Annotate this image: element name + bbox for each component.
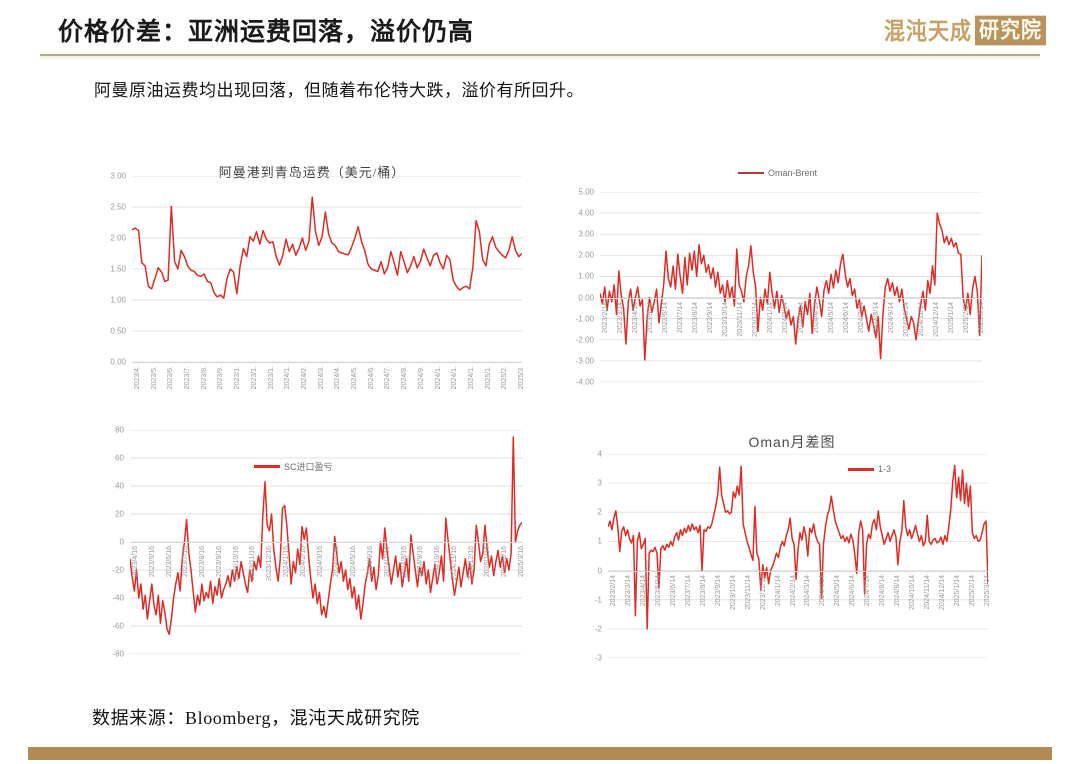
x-axis-tick-label: 2024/9/16 (417, 546, 424, 577)
x-axis-tick-label: 2023/4/14 (632, 302, 639, 333)
x-axis-tick-label: 2025/2/16 (501, 546, 508, 577)
x-axis-tick-label: 2023/7. (184, 366, 191, 389)
x-axis-tick-label: 2024/6. (368, 366, 375, 389)
plot-area: -4.00-3.00-2.00-1.000.001.002.003.004.00… (600, 192, 982, 382)
x-axis-tick-label: 2024/6/14 (849, 575, 856, 606)
x-axis-tick-label: 2024/6/14 (843, 302, 850, 333)
x-axis-tick-label: 2024/3/14 (804, 575, 811, 606)
page-title: 价格价差：亚洲运费回落，溢价仍高 (58, 12, 474, 48)
x-axis-tick-label: 2024/1. (435, 366, 442, 389)
x-axis-tick-label: 2024/8. (401, 366, 408, 389)
x-axis-tick-label: 2023/9/14 (715, 575, 722, 606)
x-axis-tick-label: 2024/12/14 (939, 575, 946, 610)
y-axis-tick-label: 80 (82, 426, 124, 435)
x-axis-tick-label: 2023/6/16 (166, 546, 173, 577)
x-axis-tick-label: 2023/9. (217, 366, 224, 389)
x-axis-tick-label: 2023/8/14 (692, 302, 699, 333)
x-axis-tick-label: 2025/1/16 (484, 546, 491, 577)
x-axis-tick-label: 2024/5/16 (350, 546, 357, 577)
legend-line-icon (738, 172, 764, 174)
x-axis-tick-label: 2023/12/16 (266, 546, 273, 581)
x-axis-tick-label: 2024/7/14 (864, 575, 871, 606)
legend-label: Oman-Brent (768, 168, 817, 178)
y-axis-tick-label: -20 (82, 566, 124, 575)
x-axis-tick-label: 2024/8/14 (879, 575, 886, 606)
chart-sc-import-profit-loss: SC进口盈亏 -80-60-40-200204060802023/4/16202… (86, 424, 538, 686)
x-axis-tick-label: 2023/7/14 (685, 575, 692, 606)
y-axis-tick-label: 1.00 (552, 272, 594, 281)
x-axis-tick-label: 2024/9/14 (888, 302, 895, 333)
x-axis-tick-label: 2025/3/14 (978, 302, 985, 333)
y-axis-tick-label: 3 (560, 479, 602, 488)
chart-oman-month-spread: Oman月差图 1-3 -3-2-1012342023/2/142023/3/1… (566, 428, 1018, 690)
x-axis-tick-label: 2023/11/14 (745, 575, 752, 610)
y-axis-tick-label: 4 (560, 450, 602, 459)
x-axis-tick-label: 2025/3/16 (518, 546, 525, 577)
y-axis-tick-label: 2 (560, 508, 602, 517)
x-axis-tick-label: 2025/1/14 (948, 302, 955, 333)
x-axis-tick-label: 2024/1/16 (283, 546, 290, 577)
x-axis-tick-label: 2025/3. (518, 366, 525, 389)
x-axis-tick-label: 2024/8/14 (873, 302, 880, 333)
y-axis-tick-label: -2 (560, 624, 602, 633)
plot-area: -3-2-1012342023/2/142023/3/142023/4/1420… (608, 454, 988, 658)
x-axis-tick-label: 2024/7/14 (858, 302, 865, 333)
x-axis-tick-label: 2024/10/16 (434, 546, 441, 581)
y-axis-tick-label: 2.00 (552, 251, 594, 260)
x-axis-tick-label: 2023/10/14 (722, 302, 729, 337)
x-axis-tick-label: 2024/1/14 (767, 302, 774, 333)
plot-area: 0.000.501.001.502.002.503.002023/4.2023/… (132, 176, 522, 362)
y-axis-tick-label: 0 (560, 566, 602, 575)
x-axis-tick-label: 2024/2/14 (790, 575, 797, 606)
x-axis-tick-label: 2023/5/14 (647, 302, 654, 333)
x-axis-tick-label: 2023/2/14 (602, 302, 609, 333)
series-line (130, 437, 522, 634)
y-axis-tick-label: 2.00 (84, 234, 126, 243)
chart-canvas (132, 176, 522, 362)
x-axis-tick-label: 2024/12/16 (468, 546, 475, 581)
x-axis-tick-label: 2024/10/14 (909, 575, 916, 610)
x-axis-tick-label: 2024/5/14 (828, 302, 835, 333)
x-axis-tick-label: 2023/3/14 (617, 302, 624, 333)
x-axis-tick-label: 2024/1/14 (775, 575, 782, 606)
logo-seal-text: 混沌天成 (884, 18, 972, 42)
y-axis-tick-label: 40 (82, 482, 124, 491)
y-axis-tick-label: 1 (560, 537, 602, 546)
y-axis-tick-label: 0.50 (84, 327, 126, 336)
series-line (132, 197, 522, 298)
x-axis-line (130, 542, 522, 543)
x-axis-tick-label: 2023/10/14 (730, 575, 737, 610)
x-axis-tick-label: 2024/5/14 (834, 575, 841, 606)
x-axis-tick-label: 2023/1. (268, 366, 275, 389)
x-axis-tick-label: 2024/6/16 (367, 546, 374, 577)
series-line (608, 466, 988, 629)
slide-header: 价格价差：亚洲运费回落，溢价仍高 混沌天成 研究院 (0, 0, 1080, 62)
x-axis-tick-label: 2024/1. (451, 366, 458, 389)
y-axis-tick-label: 2.50 (84, 203, 126, 212)
x-axis-tick-label: 2023/5/14 (655, 575, 662, 606)
x-axis-tick-label: 2024/2/16 (300, 546, 307, 577)
x-axis-tick-label: 2023/1. (251, 366, 258, 389)
x-axis-tick-label: 2023/6/14 (670, 575, 677, 606)
x-axis-tick-label: 2023/8/16 (199, 546, 206, 577)
x-axis-tick-label: 2024/3. (318, 366, 325, 389)
y-axis-tick-label: -40 (82, 594, 124, 603)
x-axis-tick-label: 2024/11/16 (451, 546, 458, 581)
footer-bar (28, 747, 1052, 760)
y-axis-tick-label: 60 (82, 454, 124, 463)
x-axis-tick-label: 2023/6/14 (662, 302, 669, 333)
company-logo: 混沌天成 研究院 (884, 12, 1046, 48)
x-axis-tick-label: 2023/2/14 (610, 575, 617, 606)
x-axis-tick-label: 2023/9/16 (216, 546, 223, 577)
y-axis-tick-label: -3.00 (552, 356, 594, 365)
plot-area: -80-60-40-200204060802023/4/162023/5/162… (130, 430, 522, 654)
x-axis-tick-label: 2024/9/14 (894, 575, 901, 606)
x-axis-tick-label: 2023/7/16 (182, 546, 189, 577)
y-axis-tick-label: -2.00 (552, 335, 594, 344)
y-axis-tick-label: 0.00 (552, 293, 594, 302)
x-axis-tick-label: 2024/4/14 (813, 302, 820, 333)
lead-paragraph: 阿曼原油运费均出现回落，但随着布伦特大跌，溢价有所回升。 (94, 76, 584, 101)
y-axis-tick-label: 1.50 (84, 265, 126, 274)
y-axis-tick-label: 0 (82, 538, 124, 547)
chart-oman-brent-spread: Oman-Brent -4.00-3.00-2.00-1.000.001.002… (548, 166, 1034, 398)
x-axis-tick-label: 2025/2/14 (963, 302, 970, 333)
x-axis-tick-label: 2024/1. (468, 366, 475, 389)
chart-legend: Oman-Brent (738, 168, 817, 178)
x-axis-tick-label: 2023/5/16 (149, 546, 156, 577)
x-axis-tick-label: 2025/3/14 (984, 575, 991, 606)
x-axis-tick-label: 2023/4. (134, 366, 141, 389)
y-axis-tick-label: -60 (82, 622, 124, 631)
y-axis-tick-label: 20 (82, 510, 124, 519)
x-axis-tick-label: 2024/7. (384, 366, 391, 389)
series-line (600, 213, 982, 360)
x-axis-tick-label: 2023/1. (234, 366, 241, 389)
y-axis-tick-label: -1.00 (552, 314, 594, 323)
x-axis-tick-label: 2023/11/16 (249, 546, 256, 581)
x-axis-tick-label: 2024/7/16 (384, 546, 391, 577)
x-axis-tick-label: 2023/9/14 (707, 302, 714, 333)
x-axis-tick-label: 2024/12/14 (933, 302, 940, 337)
x-axis-tick-label: 2024/5. (351, 366, 358, 389)
x-axis-tick-label: 2024/3/14 (798, 302, 805, 333)
x-axis-tick-label: 2023/10/16 (233, 546, 240, 581)
x-axis-tick-label: 2024/2. (301, 366, 308, 389)
y-axis-tick-label: -80 (82, 650, 124, 659)
chart-title: Oman月差图 (566, 432, 1018, 452)
y-axis-tick-label: -1 (560, 595, 602, 604)
x-axis-tick-label: 2025/2/14 (969, 575, 976, 606)
x-axis-tick-label: 2023/7/14 (677, 302, 684, 333)
x-axis-tick-label: 2024/9. (418, 366, 425, 389)
y-axis-tick-label: -4.00 (552, 378, 594, 387)
y-axis-tick-label: 0.00 (84, 358, 126, 367)
x-axis-tick-label: 2024/11/14 (918, 302, 925, 337)
y-axis-tick-label: 4.00 (552, 209, 594, 218)
x-axis-tick-label: 2023/12/14 (752, 302, 759, 337)
x-axis-line (132, 362, 522, 363)
x-axis-tick-label: 2023/4/14 (640, 575, 647, 606)
x-axis-tick-label: 2023/5. (151, 366, 158, 389)
slide-root: 价格价差：亚洲运费回落，溢价仍高 混沌天成 研究院 阿曼原油运费均出现回落，但随… (0, 0, 1080, 764)
x-axis-line (608, 571, 988, 572)
x-axis-tick-label: 2023/8. (201, 366, 208, 389)
x-axis-tick-label: 2024/8/16 (401, 546, 408, 577)
x-axis-tick-label: 2024/4/16 (333, 546, 340, 577)
y-axis-tick-label: 1.00 (84, 296, 126, 305)
y-axis-tick-label: -3 (560, 654, 602, 663)
x-axis-tick-label: 2023/8/14 (700, 575, 707, 606)
y-axis-tick-label: 5.00 (552, 188, 594, 197)
data-source-note: 数据来源：Bloomberg，混沌天成研究院 (92, 704, 420, 730)
x-axis-tick-label: 2024/4/14 (819, 575, 826, 606)
x-axis-tick-label: 2023/11/14 (737, 302, 744, 337)
x-axis-tick-label: 2024/11/14 (924, 575, 931, 610)
x-axis-tick-label: 2023/12/14 (760, 575, 767, 610)
x-axis-tick-label: 2024/10/14 (903, 302, 910, 337)
chart-canvas (600, 192, 982, 382)
x-axis-tick-label: 2025/1. (485, 366, 492, 389)
y-axis-tick-label: 3.00 (84, 172, 126, 181)
x-axis-tick-label: 2024/3/16 (317, 546, 324, 577)
x-axis-tick-label: 2023/6. (167, 366, 174, 389)
x-axis-tick-label: 2025/2. (501, 366, 508, 389)
x-axis-tick-label: 2023/3/14 (625, 575, 632, 606)
x-axis-tick-label: 2024/2/14 (782, 302, 789, 333)
x-axis-tick-label: 2023/4/16 (132, 546, 139, 577)
x-axis-tick-label: 2025/1/14 (954, 575, 961, 606)
x-axis-line (600, 298, 982, 299)
y-axis-tick-label: 3.00 (552, 230, 594, 239)
chart-oman-qingdao-freight: 阿曼港到青岛运费（美元/桶） 0.000.501.001.502.002.503… (86, 158, 538, 398)
x-axis-tick-label: 2024/4. (334, 366, 341, 389)
chart-canvas (608, 454, 988, 658)
header-divider-shadow (40, 56, 1040, 61)
x-axis-tick-label: 2024/1. (284, 366, 291, 389)
logo-institute-badge: 研究院 (975, 15, 1046, 45)
